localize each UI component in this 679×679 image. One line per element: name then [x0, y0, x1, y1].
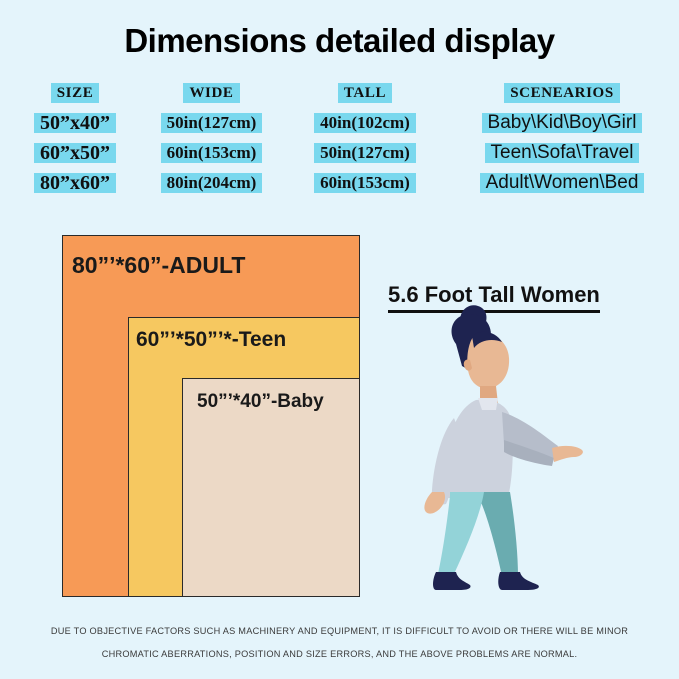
- size-rect-label-baby: 50”’*40”-Baby: [197, 391, 324, 413]
- shoe-front: [433, 572, 471, 590]
- disclaimer-text: DUE TO OBJECTIVE FACTORS SUCH AS MACHINE…: [0, 620, 679, 666]
- shoe-back: [498, 572, 539, 590]
- leg-front: [438, 492, 484, 574]
- hand-right: [552, 446, 583, 462]
- size-rect-label-adult: 80”’*60”-ADULT: [72, 252, 245, 279]
- disclaimer-line-1: DUE TO OBJECTIVE FACTORS SUCH AS MACHINE…: [0, 620, 679, 643]
- hand-left: [424, 492, 445, 514]
- size-rect-label-teen: 60”’*50”’*-Teen: [136, 328, 286, 352]
- woman-illustration: [392, 300, 592, 600]
- disclaimer-line-2: CHROMATIC ABERRATIONS, POSITION AND SIZE…: [0, 643, 679, 666]
- infographic-page: Dimensions detailed display SIZE 50”x40”…: [0, 0, 679, 679]
- leg-back: [480, 492, 518, 576]
